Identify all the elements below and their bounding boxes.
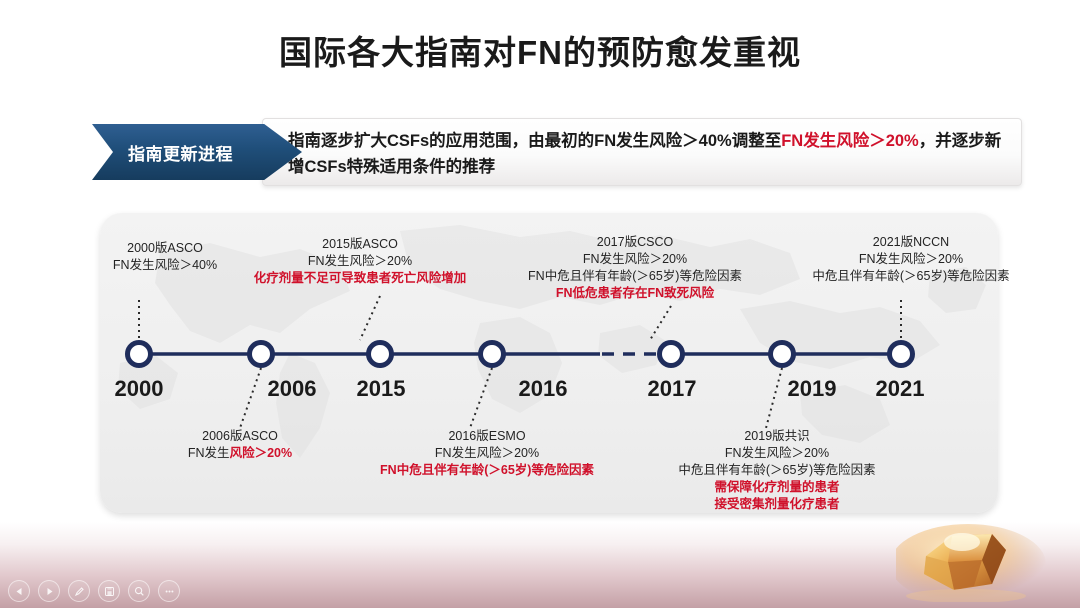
bottom-toolbar[interactable] (8, 580, 180, 602)
annotation-2006-line2-highlight: 风险＞20% (230, 446, 293, 460)
more-icon[interactable] (158, 580, 180, 602)
page-title: 国际各大指南对FN的预防愈发重视 (0, 26, 1080, 74)
annotation-2015-line2: FN发生风险＞20% (254, 253, 467, 270)
annotation-2019-line1: 2019版共识 (678, 428, 875, 445)
annotation-2006: 2006版ASCO FN发生风险＞20% (188, 428, 292, 462)
annotation-2006-line1: 2006版ASCO (188, 428, 292, 445)
banner-line1-plain: 指南逐步扩大CSFs的应用范围，由最初的FN发生风险＞40%调整至 (288, 132, 781, 150)
annotation-2019-line2: FN发生风险＞20% (678, 445, 875, 462)
annotation-2021: 2021版NCCN FN发生风险＞20% 中危且伴有年龄(＞65岁)等危险因素 (812, 234, 1009, 285)
play-icon[interactable] (38, 580, 60, 602)
annotation-2015-line1: 2015版ASCO (254, 236, 467, 253)
annotation-2006-line2-plain: FN发生 (188, 446, 230, 460)
annotation-2017-line3: FN中危且伴有年龄(＞65岁)等危险因素 (528, 268, 742, 285)
banner-tag-label: 指南更新进程 (128, 140, 233, 165)
annotation-2016-line2: FN发生风险＞20% (380, 445, 594, 462)
annotation-2015: 2015版ASCO FN发生风险＞20% 化疗剂量不足可导致患者死亡风险增加 (254, 236, 467, 287)
annotation-2000: 2000版ASCO FN发生风险＞40% (113, 240, 217, 274)
previous-icon[interactable] (8, 580, 30, 602)
guideline-banner: 指南更新进程 指南逐步扩大CSFs的应用范围，由最初的FN发生风险＞40%调整至… (92, 118, 1022, 186)
annotation-2019-line4: 需保障化疗剂量的患者 (678, 479, 875, 496)
timeline-year-2000[interactable]: 2000 (115, 376, 164, 402)
annotation-2016-line3: FN中危且伴有年龄(＞65岁)等危险因素 (380, 462, 594, 479)
timeline-year-2019[interactable]: 2019 (788, 376, 837, 402)
annotation-2019: 2019版共识 FN发生风险＞20% 中危且伴有年龄(＞65岁)等危险因素 需保… (678, 428, 875, 513)
search-icon[interactable] (128, 580, 150, 602)
annotation-2021-line3: 中危且伴有年龄(＞65岁)等危险因素 (812, 268, 1009, 285)
annotation-2017-line2: FN发生风险＞20% (528, 251, 742, 268)
annotation-2017-line4: FN低危患者存在FN致死风险 (528, 285, 742, 302)
annotation-2016: 2016版ESMO FN发生风险＞20% FN中危且伴有年龄(＞65岁)等危险因… (380, 428, 594, 479)
annotation-2021-line1: 2021版NCCN (812, 234, 1009, 251)
banner-tag: 指南更新进程 (92, 124, 302, 180)
annotation-2021-line2: FN发生风险＞20% (812, 251, 1009, 268)
annotation-2017: 2017版CSCO FN发生风险＞20% FN中危且伴有年龄(＞65岁)等危险因… (528, 234, 742, 302)
notes-icon[interactable] (98, 580, 120, 602)
annotation-2016-line1: 2016版ESMO (380, 428, 594, 445)
annotation-2000-line1: 2000版ASCO (113, 240, 217, 257)
banner-text: 指南逐步扩大CSFs的应用范围，由最初的FN发生风险＞40%调整至FN发生风险＞… (288, 128, 1008, 180)
annotation-2017-line1: 2017版CSCO (528, 234, 742, 251)
timeline-year-2016[interactable]: 2016 (519, 376, 568, 402)
banner-line2-highlight: 险＞20% (853, 132, 919, 150)
annotation-2019-line3: 中危且伴有年龄(＞65岁)等危险因素 (678, 462, 875, 479)
annotation-2015-line3: 化疗剂量不足可导致患者死亡风险增加 (254, 270, 467, 287)
timeline-year-2015[interactable]: 2015 (357, 376, 406, 402)
banner-line1-highlight: FN发生风 (781, 132, 853, 150)
pen-icon[interactable] (68, 580, 90, 602)
slide-root: 国际各大指南对FN的预防愈发重视 指南更新进程 指南逐步扩大CSFs的应用范围，… (0, 0, 1080, 608)
timeline-year-2017[interactable]: 2017 (648, 376, 697, 402)
timeline-year-2006[interactable]: 2006 (268, 376, 317, 402)
annotation-2000-line2: FN发生风险＞40% (113, 257, 217, 274)
annotation-2006-line2: FN发生风险＞20% (188, 445, 292, 462)
annotation-2019-line5: 接受密集剂量化疗患者 (678, 496, 875, 513)
timeline-year-2021[interactable]: 2021 (876, 376, 925, 402)
